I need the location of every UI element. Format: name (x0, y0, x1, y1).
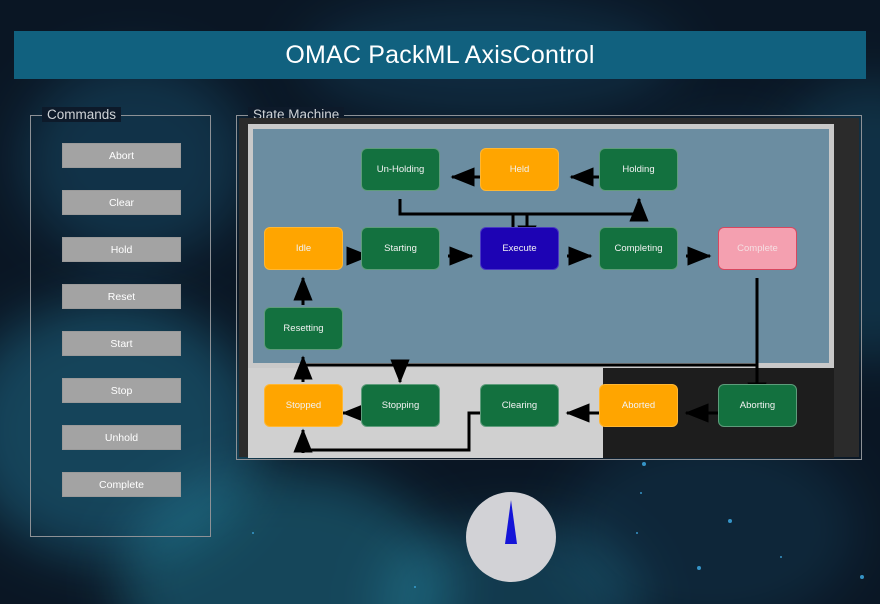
state-box-label: Resetting (283, 323, 323, 334)
command-button-label: Clear (109, 197, 134, 209)
command-button-unhold[interactable]: Unhold (62, 425, 181, 450)
state-box-stopping[interactable]: Stopping (361, 384, 440, 427)
state-box-label: Idle (296, 243, 311, 254)
state-box-label: Execute (502, 243, 536, 254)
command-button-reset[interactable]: Reset (62, 284, 181, 309)
state-box-label: Aborting (740, 400, 775, 411)
command-button-label: Unhold (105, 432, 138, 444)
command-button-hold[interactable]: Hold (62, 237, 181, 262)
state-box-clearing[interactable]: Clearing (480, 384, 559, 427)
state-box-label: Clearing (502, 400, 537, 411)
command-button-stop[interactable]: Stop (62, 378, 181, 403)
state-box-held[interactable]: Held (480, 148, 559, 191)
command-button-label: Start (110, 338, 132, 350)
state-box-label: Aborted (622, 400, 655, 411)
state-box-idle[interactable]: Idle (264, 227, 343, 270)
state-box-stopped[interactable]: Stopped (264, 384, 343, 427)
command-button-label: Complete (99, 479, 144, 491)
state-box-execute[interactable]: Execute (480, 227, 559, 270)
state-box-starting[interactable]: Starting (361, 227, 440, 270)
state-box-label: Held (510, 164, 530, 175)
command-button-start[interactable]: Start (62, 331, 181, 356)
state-machine-groupbox: State Machine (236, 115, 862, 460)
command-button-label: Abort (109, 150, 134, 162)
state-box-label: Starting (384, 243, 417, 254)
state-box-complete[interactable]: Complete (718, 227, 797, 270)
state-box-holding[interactable]: Holding (599, 148, 678, 191)
state-box-label: Complete (737, 243, 778, 254)
command-button-complete[interactable]: Complete (62, 472, 181, 497)
command-button-abort[interactable]: Abort (62, 143, 181, 168)
axis-position-gauge[interactable] (466, 492, 556, 582)
state-box-aborted[interactable]: Aborted (599, 384, 678, 427)
gauge-needle-icon (466, 492, 556, 582)
state-box-label: Stopping (382, 400, 420, 411)
state-box-label: Un-Holding (377, 164, 425, 175)
commands-legend: Commands (42, 107, 121, 122)
state-box-label: Stopped (286, 400, 321, 411)
command-button-clear[interactable]: Clear (62, 190, 181, 215)
state-box-label: Completing (614, 243, 662, 254)
command-button-label: Stop (111, 385, 133, 397)
title-banner: OMAC PackML AxisControl (14, 31, 866, 79)
state-box-completing[interactable]: Completing (599, 227, 678, 270)
commands-groupbox: Commands AbortClearHoldResetStartStopUnh… (30, 115, 211, 537)
state-box-aborting[interactable]: Aborting (718, 384, 797, 427)
state-box-label: Holding (622, 164, 654, 175)
state-box-un-holding[interactable]: Un-Holding (361, 148, 440, 191)
state-machine-frame: Un-HoldingHeldHoldingIdleStartingExecute… (239, 118, 859, 457)
page-title: OMAC PackML AxisControl (285, 41, 594, 70)
command-button-label: Reset (108, 291, 135, 303)
state-box-resetting[interactable]: Resetting (264, 307, 343, 350)
command-button-label: Hold (111, 244, 133, 256)
